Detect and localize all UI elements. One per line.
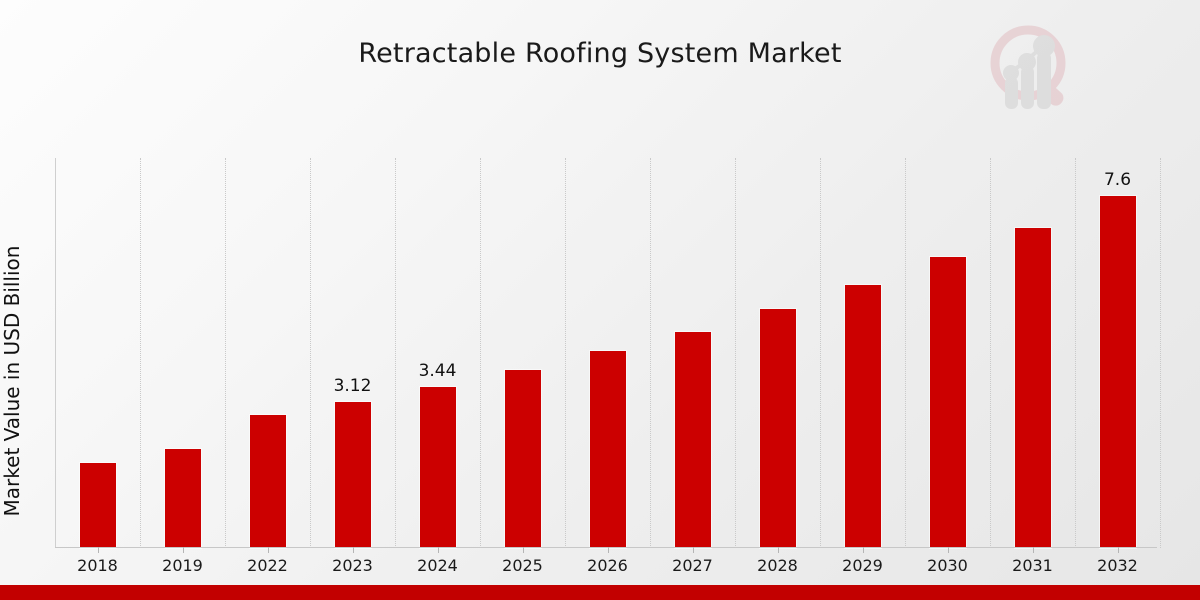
bar-group[interactable] — [565, 158, 650, 548]
x-tick-mark — [1033, 547, 1034, 553]
x-tick-label: 2024 — [395, 556, 480, 575]
x-tick-mark — [863, 547, 864, 553]
logo-marker-3 — [1033, 35, 1055, 57]
logo-bar-3 — [1037, 52, 1051, 109]
x-tick-label: 2022 — [225, 556, 310, 575]
x-tick-mark — [948, 547, 949, 553]
bar[interactable] — [420, 387, 456, 548]
bar-group[interactable]: 3.12 — [310, 158, 395, 548]
x-tick-mark — [353, 547, 354, 553]
bar-group[interactable] — [990, 158, 1075, 548]
bar[interactable] — [1100, 196, 1136, 548]
logo-bar-2 — [1021, 66, 1034, 109]
x-tick-label: 2030 — [905, 556, 990, 575]
x-tick-label: 2019 — [140, 556, 225, 575]
bar[interactable] — [335, 402, 371, 548]
bar[interactable] — [165, 449, 201, 548]
bar[interactable] — [675, 332, 711, 548]
bar-group[interactable]: 3.44 — [395, 158, 480, 548]
bar-value-label: 7.6 — [1075, 170, 1160, 190]
x-tick-mark — [608, 547, 609, 553]
bar[interactable] — [590, 351, 626, 548]
magnifying-glass-bar-chart-logo — [985, 22, 1081, 114]
x-tick-mark — [1118, 547, 1119, 553]
y-axis-title: Market Value in USD Billion — [0, 186, 26, 576]
x-tick-mark — [438, 547, 439, 553]
bar-group[interactable] — [55, 158, 140, 548]
x-tick-label: 2018 — [55, 556, 140, 575]
bar[interactable] — [250, 415, 286, 548]
bar-group[interactable] — [905, 158, 990, 548]
bar-group[interactable] — [820, 158, 905, 548]
bar[interactable] — [505, 370, 541, 548]
x-tick-label: 2027 — [650, 556, 735, 575]
bar[interactable] — [760, 309, 796, 548]
x-tick-label: 2028 — [735, 556, 820, 575]
x-tick-mark — [778, 547, 779, 553]
x-tick-mark — [183, 547, 184, 553]
x-tick-label: 2025 — [480, 556, 565, 575]
logo-marker-2 — [1018, 53, 1036, 71]
logo-bar-1 — [1005, 77, 1018, 109]
gridline — [1160, 158, 1161, 548]
bar-value-label: 3.44 — [395, 361, 480, 381]
bar-group[interactable] — [480, 158, 565, 548]
plot-area: 3.123.447.6 — [55, 158, 1157, 548]
x-tick-label: 2031 — [990, 556, 1075, 575]
bar-group[interactable] — [140, 158, 225, 548]
bar[interactable] — [845, 285, 881, 548]
bar-value-label: 3.12 — [310, 376, 395, 396]
x-tick-label: 2026 — [565, 556, 650, 575]
chart-figure: Retractable Roofing System Market Market… — [0, 0, 1200, 600]
bar-group[interactable] — [225, 158, 310, 548]
logo-svg — [985, 22, 1081, 114]
x-tick-label: 2029 — [820, 556, 905, 575]
x-tick-mark — [693, 547, 694, 553]
bar-group[interactable] — [735, 158, 820, 548]
x-tick-mark — [98, 547, 99, 553]
bar[interactable] — [1015, 228, 1051, 548]
x-tick-label: 2032 — [1075, 556, 1160, 575]
x-axis-line — [55, 547, 1157, 548]
bar[interactable] — [930, 257, 966, 548]
x-tick-mark — [268, 547, 269, 553]
bar-group[interactable] — [650, 158, 735, 548]
x-tick-mark — [523, 547, 524, 553]
logo-marker-1 — [1003, 65, 1019, 81]
bar-group[interactable]: 7.6 — [1075, 158, 1160, 548]
bar[interactable] — [80, 463, 116, 548]
x-tick-label: 2023 — [310, 556, 395, 575]
footer-band — [0, 585, 1200, 600]
